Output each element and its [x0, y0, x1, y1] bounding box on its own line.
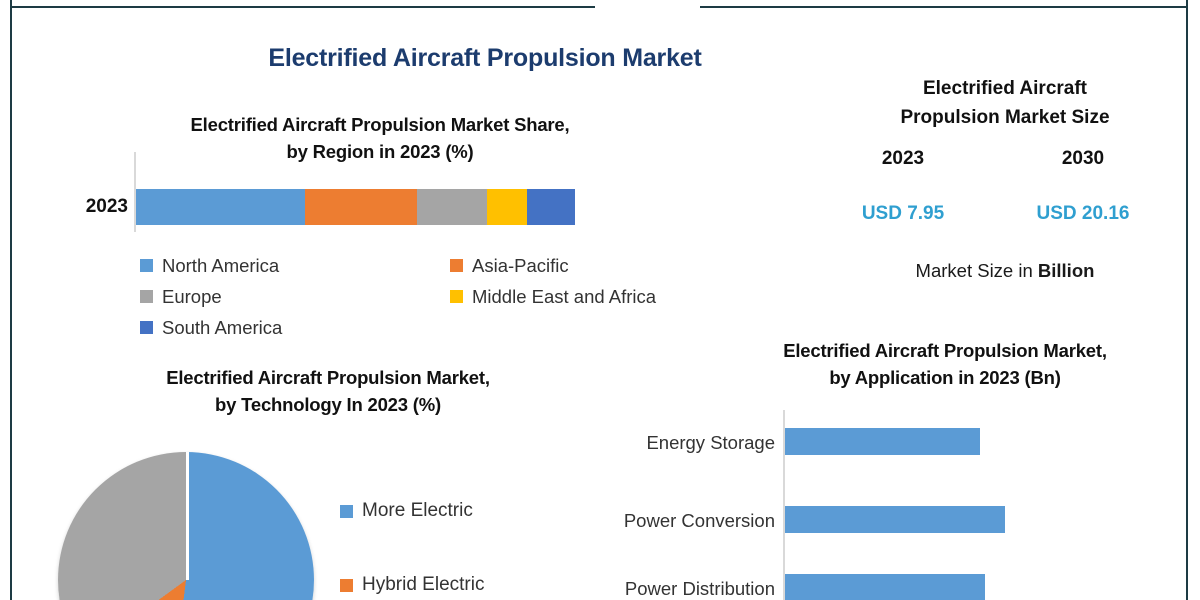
technology-pie-chart[interactable]	[58, 452, 314, 600]
region-chart-title-line1: Electrified Aircraft Propulsion Market S…	[60, 112, 700, 139]
frame-top-left-border	[10, 6, 595, 8]
frame-right-border	[1186, 0, 1188, 600]
application-bar-power-conversion[interactable]	[785, 506, 1005, 533]
technology-chart-title-line2: by Technology In 2023 (%)	[38, 392, 618, 419]
region-chart-title: Electrified Aircraft Propulsion Market S…	[60, 112, 700, 166]
legend-swatch-icon	[340, 579, 353, 592]
region-segment-north-america[interactable]	[136, 189, 305, 225]
application-bar-energy-storage[interactable]	[785, 428, 980, 455]
market-size-year-2023: 2023	[828, 148, 978, 170]
region-segment-asia-pacific[interactable]	[305, 189, 417, 225]
technology-chart-title: Electrified Aircraft Propulsion Market, …	[38, 365, 618, 419]
legend-label: Europe	[162, 286, 222, 308]
legend-swatch-icon	[140, 290, 153, 303]
legend-item-south-america[interactable]: South America	[140, 312, 450, 343]
legend-swatch-icon	[140, 321, 153, 334]
technology-chart-title-line1: Electrified Aircraft Propulsion Market,	[38, 365, 618, 392]
market-size-year-2030: 2030	[1008, 148, 1158, 170]
market-size-unit-bold: Billion	[1038, 260, 1095, 281]
frame-left-border	[10, 0, 12, 600]
frame-top-right-border	[700, 6, 1188, 8]
legend-item-europe[interactable]: Europe	[140, 281, 450, 312]
legend-row: North America Asia-Pacific	[140, 250, 700, 281]
legend-swatch-icon	[450, 259, 463, 272]
market-size-title-line2: Propulsion Market Size	[830, 103, 1180, 132]
application-label-energy-storage: Energy Storage	[575, 432, 775, 454]
region-segment-europe[interactable]	[417, 189, 487, 225]
region-segment-middle-east-and-africa[interactable]	[487, 189, 527, 225]
region-segment-south-america[interactable]	[527, 189, 575, 225]
legend-label: More Electric	[362, 500, 473, 522]
legend-item-middle-east-and-africa[interactable]: Middle East and Africa	[450, 281, 700, 312]
technology-chart-legend: More Electric Hybrid Electric	[340, 474, 484, 600]
legend-row: Europe Middle East and Africa	[140, 281, 700, 312]
application-label-power-distribution: Power Distribution	[575, 578, 775, 600]
region-chart-title-line2: by Region in 2023 (%)	[60, 139, 700, 166]
market-size-value-2030: USD 20.16	[1003, 203, 1163, 225]
legend-swatch-icon	[450, 290, 463, 303]
legend-label: North America	[162, 255, 279, 277]
legend-row: South America	[140, 312, 700, 343]
page-title: Electrified Aircraft Propulsion Market	[0, 44, 970, 73]
legend-label: Asia-Pacific	[472, 255, 569, 277]
region-chart-category-label: 2023	[58, 196, 128, 218]
legend-label: South America	[162, 317, 282, 339]
market-size-unit-prefix: Market Size in	[916, 260, 1038, 281]
pie-slice-divider	[186, 452, 189, 580]
legend-swatch-icon	[140, 259, 153, 272]
region-stacked-bar[interactable]	[136, 189, 575, 225]
legend-label: Middle East and Africa	[472, 286, 656, 308]
legend-swatch-icon	[340, 505, 353, 518]
application-chart-title-line2: by Application in 2023 (Bn)	[690, 365, 1200, 392]
infographic-canvas: Electrified Aircraft Propulsion Market E…	[0, 0, 1200, 600]
market-size-title-line1: Electrified Aircraft	[830, 74, 1180, 103]
application-label-power-conversion: Power Conversion	[575, 510, 775, 532]
market-size-unit: Market Size in Billion	[830, 260, 1180, 282]
region-chart-legend: North America Asia-Pacific Europe Middle…	[140, 250, 700, 343]
legend-item-more-electric[interactable]: More Electric	[340, 474, 484, 548]
legend-item-hybrid-electric[interactable]: Hybrid Electric	[340, 548, 484, 600]
market-size-title: Electrified Aircraft Propulsion Market S…	[830, 74, 1180, 133]
application-chart-title-line1: Electrified Aircraft Propulsion Market,	[690, 338, 1200, 365]
legend-item-asia-pacific[interactable]: Asia-Pacific	[450, 250, 700, 281]
market-size-value-2023: USD 7.95	[823, 203, 983, 225]
legend-item-north-america[interactable]: North America	[140, 250, 450, 281]
application-chart-title: Electrified Aircraft Propulsion Market, …	[690, 338, 1200, 392]
application-bar-power-distribution[interactable]	[785, 574, 985, 600]
legend-label: Hybrid Electric	[362, 574, 484, 596]
